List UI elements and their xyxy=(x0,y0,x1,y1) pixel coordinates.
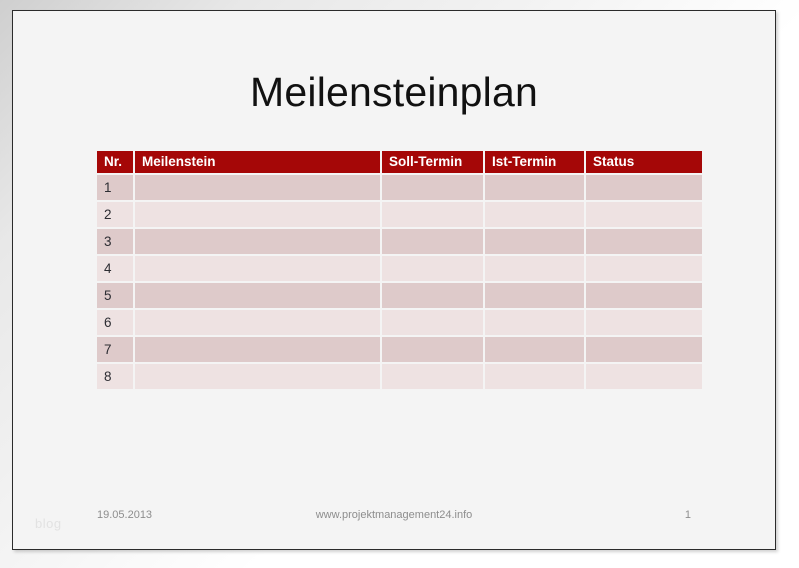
cell-soll-termin[interactable] xyxy=(382,337,485,364)
cell-status[interactable] xyxy=(586,283,702,310)
slide-canvas: Meilensteinplan Nr. Meilenstein Soll-Ter… xyxy=(12,10,776,550)
cell-status[interactable] xyxy=(586,175,702,202)
blog-watermark: blog xyxy=(35,516,62,531)
table-header: Nr. Meilenstein Soll-Termin Ist-Termin S… xyxy=(97,151,702,175)
cell-soll-termin[interactable] xyxy=(382,202,485,229)
cell-ist-termin[interactable] xyxy=(485,202,586,229)
column-header-status[interactable]: Status xyxy=(586,151,702,175)
table-row[interactable]: 3 xyxy=(97,229,702,256)
cell-soll-termin[interactable] xyxy=(382,256,485,283)
cell-meilenstein[interactable] xyxy=(135,175,382,202)
column-header-soll-termin[interactable]: Soll-Termin xyxy=(382,151,485,175)
table-row[interactable]: 4 xyxy=(97,256,702,283)
milestone-table: Nr. Meilenstein Soll-Termin Ist-Termin S… xyxy=(97,151,702,391)
cell-nr[interactable]: 6 xyxy=(97,310,135,337)
column-header-ist-termin[interactable]: Ist-Termin xyxy=(485,151,586,175)
cell-status[interactable] xyxy=(586,310,702,337)
cell-meilenstein[interactable] xyxy=(135,337,382,364)
cell-meilenstein[interactable] xyxy=(135,283,382,310)
table-row[interactable]: 5 xyxy=(97,283,702,310)
cell-status[interactable] xyxy=(586,256,702,283)
cell-nr[interactable]: 3 xyxy=(97,229,135,256)
cell-soll-termin[interactable] xyxy=(382,229,485,256)
cell-meilenstein[interactable] xyxy=(135,256,382,283)
cell-ist-termin[interactable] xyxy=(485,229,586,256)
cell-status[interactable] xyxy=(586,202,702,229)
table-header-row: Nr. Meilenstein Soll-Termin Ist-Termin S… xyxy=(97,151,702,175)
table-row[interactable]: 8 xyxy=(97,364,702,391)
cell-nr[interactable]: 8 xyxy=(97,364,135,391)
table-row[interactable]: 7 xyxy=(97,337,702,364)
table-row[interactable]: 2 xyxy=(97,202,702,229)
cell-status[interactable] xyxy=(586,229,702,256)
cell-ist-termin[interactable] xyxy=(485,175,586,202)
cell-ist-termin[interactable] xyxy=(485,337,586,364)
footer-url: www.projektmanagement24.info xyxy=(13,509,775,521)
cell-nr[interactable]: 7 xyxy=(97,337,135,364)
cell-ist-termin[interactable] xyxy=(485,310,586,337)
table-row[interactable]: 1 xyxy=(97,175,702,202)
cell-nr[interactable]: 1 xyxy=(97,175,135,202)
page-title: Meilensteinplan xyxy=(13,69,775,116)
column-header-meilenstein[interactable]: Meilenstein xyxy=(135,151,382,175)
cell-status[interactable] xyxy=(586,364,702,391)
cell-ist-termin[interactable] xyxy=(485,364,586,391)
cell-soll-termin[interactable] xyxy=(382,283,485,310)
cell-soll-termin[interactable] xyxy=(382,310,485,337)
cell-ist-termin[interactable] xyxy=(485,283,586,310)
cell-soll-termin[interactable] xyxy=(382,175,485,202)
cell-meilenstein[interactable] xyxy=(135,310,382,337)
cell-meilenstein[interactable] xyxy=(135,364,382,391)
footer-page-number: 1 xyxy=(685,509,691,521)
cell-nr[interactable]: 5 xyxy=(97,283,135,310)
cell-status[interactable] xyxy=(586,337,702,364)
table-row[interactable]: 6 xyxy=(97,310,702,337)
table-body: 1 2 3 xyxy=(97,175,702,391)
column-header-nr[interactable]: Nr. xyxy=(97,151,135,175)
cell-meilenstein[interactable] xyxy=(135,202,382,229)
cell-nr[interactable]: 4 xyxy=(97,256,135,283)
cell-ist-termin[interactable] xyxy=(485,256,586,283)
cell-soll-termin[interactable] xyxy=(382,364,485,391)
cell-nr[interactable]: 2 xyxy=(97,202,135,229)
presentation-slide-viewer: Meilensteinplan Nr. Meilenstein Soll-Ter… xyxy=(0,0,799,568)
cell-meilenstein[interactable] xyxy=(135,229,382,256)
